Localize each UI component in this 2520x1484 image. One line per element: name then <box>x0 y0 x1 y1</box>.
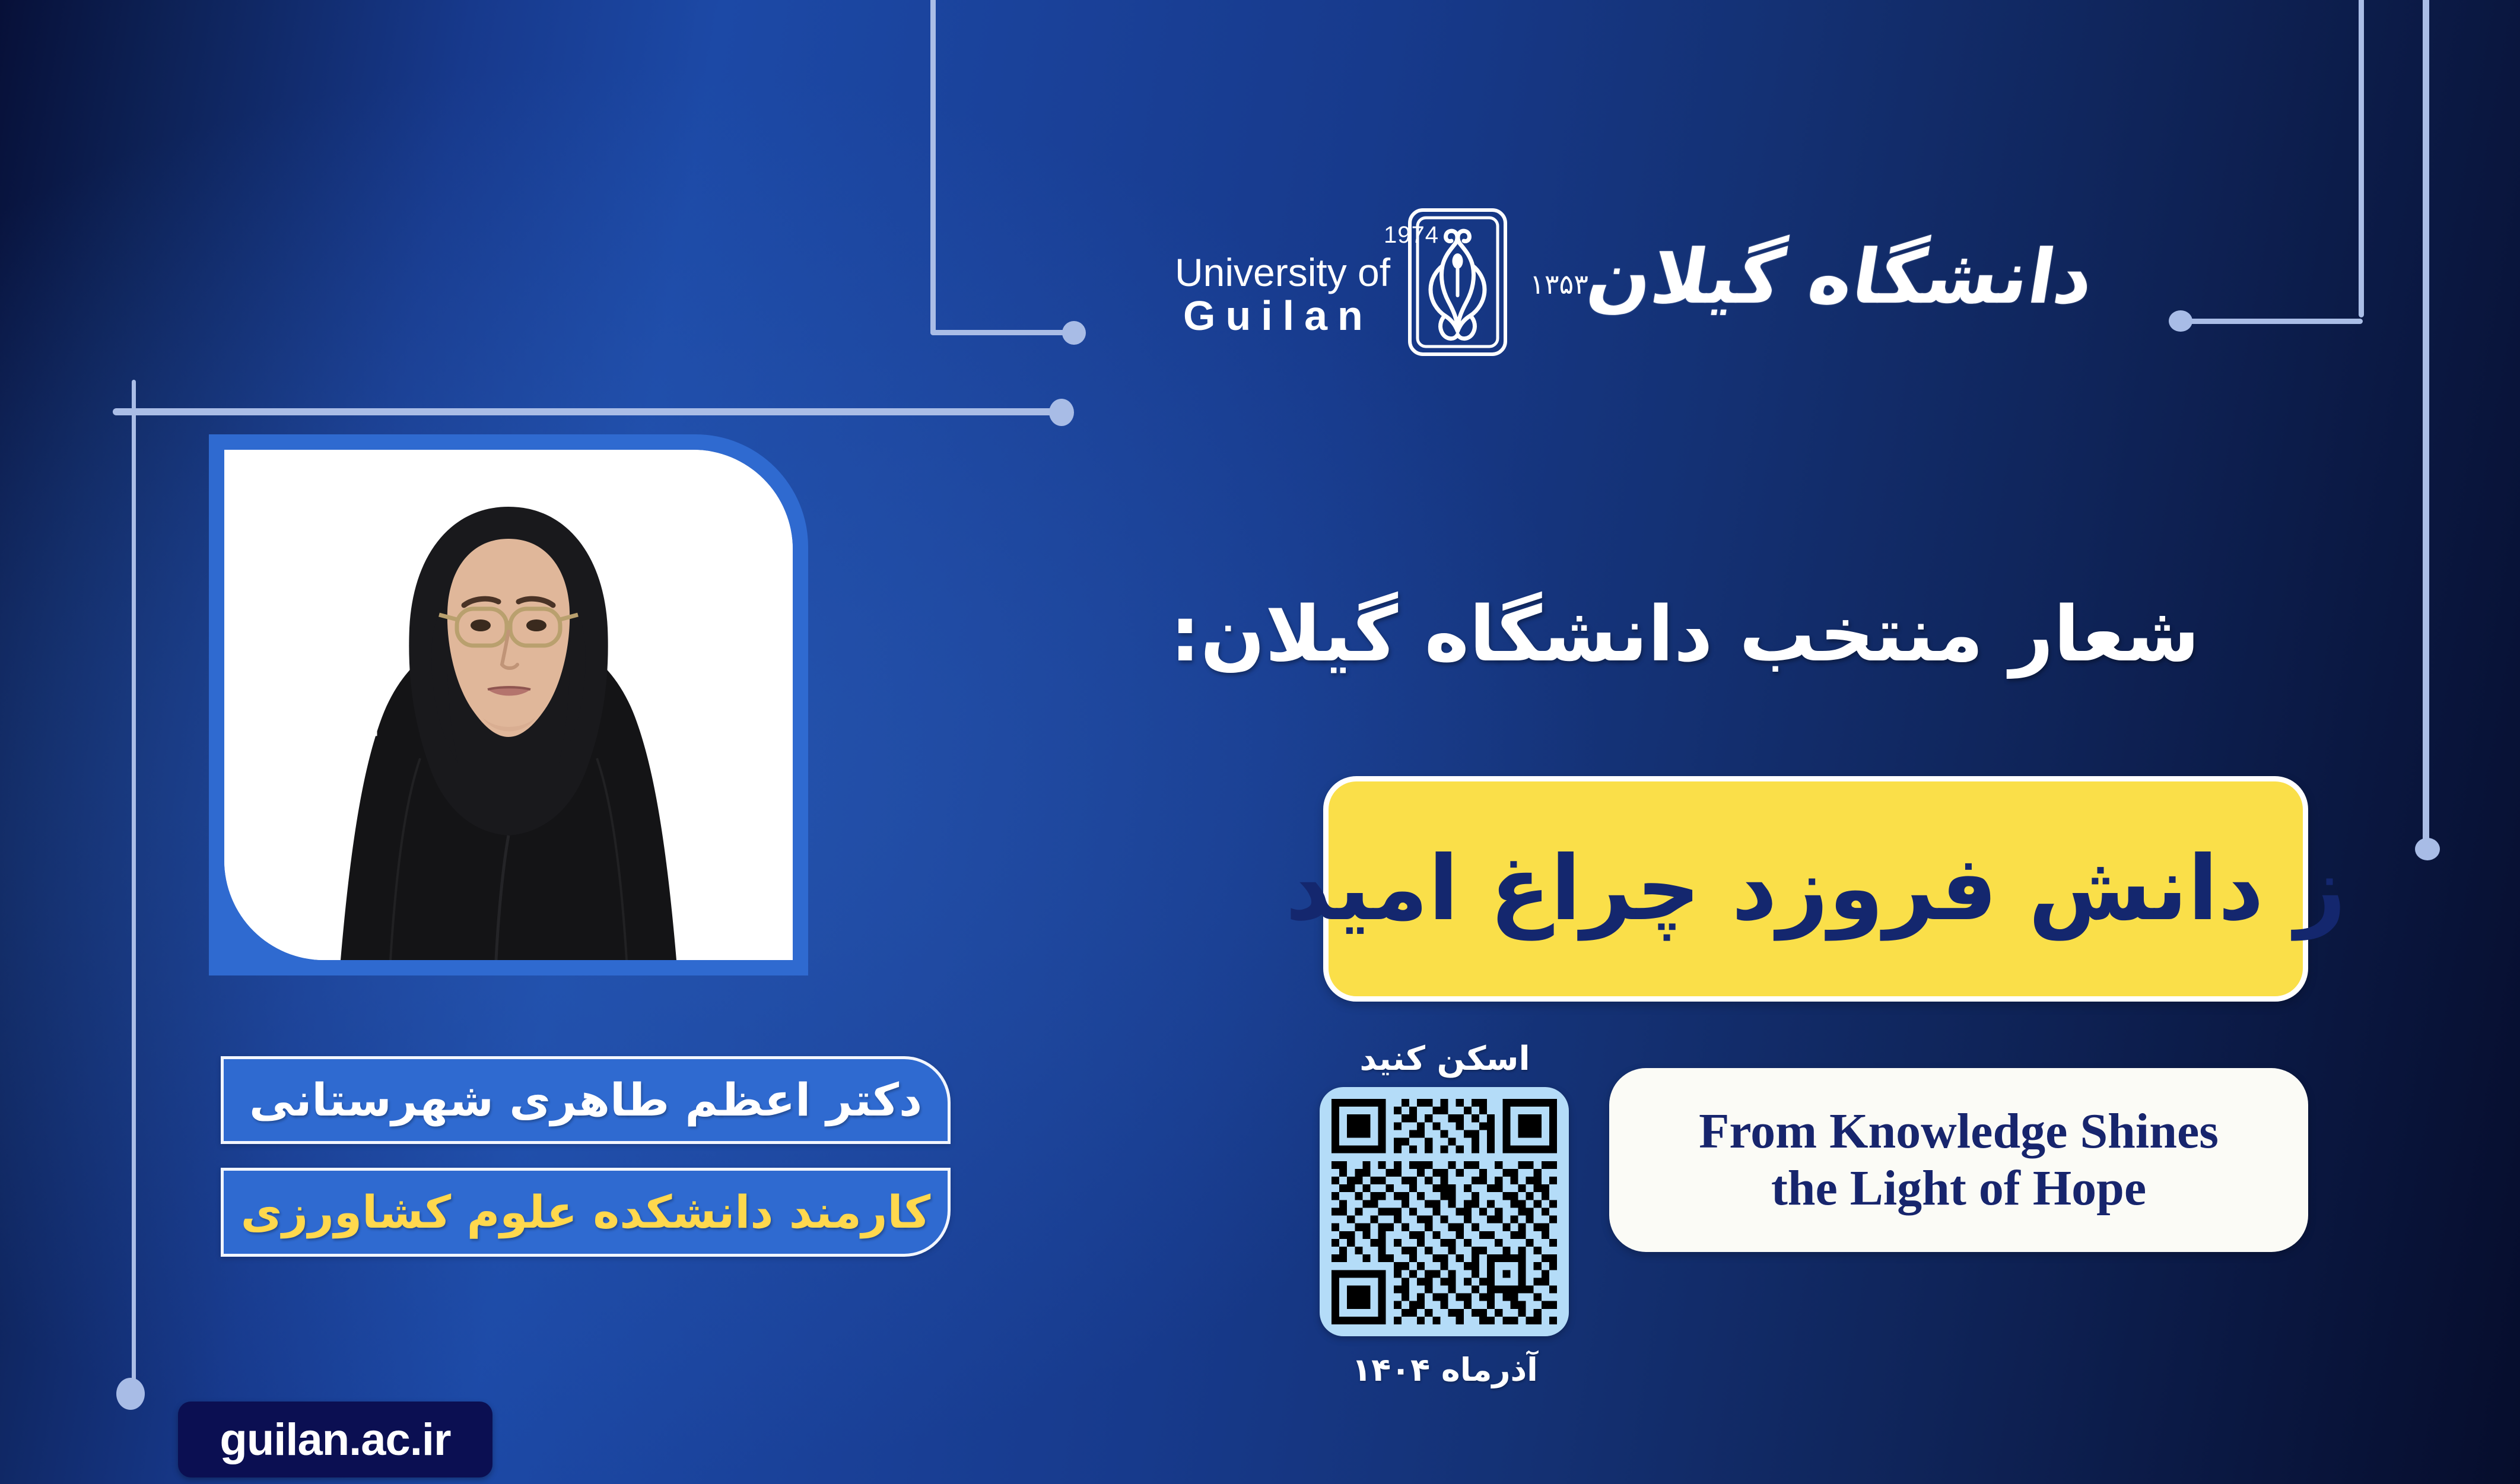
logo-founding-year-persian: ۱۳۵۳ <box>1530 268 1588 300</box>
logo-english-text: 1974 University of Guilan <box>1175 227 1390 338</box>
person-name-label: دکتر اعظم طاهری شهرستانی <box>249 1078 922 1123</box>
website-pill[interactable]: guilan.ac.ir <box>178 1402 492 1477</box>
decor-line-left-vertical <box>132 380 136 1383</box>
decor-dot-left-upper <box>1049 399 1074 426</box>
logo-guilan-label: Guilan <box>1183 295 1373 337</box>
logo-university-name-persian: دانشگاه گیلان <box>1582 240 2099 314</box>
person-role-badge: کارمند دانشکده علوم کشاورزی <box>221 1168 951 1257</box>
decor-line-right-inner-vertical <box>2359 0 2364 317</box>
portrait-photo-card <box>224 450 793 960</box>
decor-dot-top-left <box>1062 321 1086 345</box>
person-name-badge: دکتر اعظم طاهری شهرستانی <box>221 1056 951 1144</box>
qr-code-icon[interactable] <box>1320 1087 1569 1336</box>
guilan-university-emblem-icon <box>1406 206 1510 358</box>
person-role-label: کارمند دانشکده علوم کشاورزی <box>241 1190 931 1235</box>
qr-date-label: آذرماه ۱۴۰۴ <box>1305 1351 1584 1388</box>
university-logo: 1974 University of Guilan <box>1175 196 2112 368</box>
portrait-frame <box>209 434 808 975</box>
qr-section: اسکن کنید <box>1305 1040 1584 1384</box>
decor-line-left-horizontal <box>113 408 1068 415</box>
decor-dot-right-inner <box>2169 310 2192 332</box>
slogan-persian-box: ز دانش فروزد چراغ امید <box>1323 776 2308 1002</box>
poster-canvas: 1974 University of Guilan <box>0 0 2520 1484</box>
logo-persian-text: دانشگاه گیلان ۱۳۵۳ <box>1525 240 2093 324</box>
portrait-photo <box>224 450 793 960</box>
slogan-persian-text: ز دانش فروزد چراغ امید <box>1285 844 2346 933</box>
decor-line-top-left-vertical <box>930 0 936 335</box>
slogan-english-line1: From Knowledge Shines <box>1699 1103 2219 1160</box>
slogan-heading: شعار منتخب دانشگاه گیلان: <box>1170 593 2200 677</box>
decor-line-right-inner-horizontal <box>2179 319 2363 324</box>
qr-scan-label: اسکن کنید <box>1305 1040 1584 1078</box>
decor-line-right-outer-vertical <box>2423 0 2429 849</box>
decor-dot-left-lower <box>116 1378 145 1410</box>
slogan-english-box: From Knowledge Shines the Light of Hope <box>1609 1068 2308 1252</box>
website-url-label: guilan.ac.ir <box>220 1414 450 1466</box>
logo-university-of-label: University of <box>1175 253 1390 293</box>
slogan-english-line2: the Light of Hope <box>1771 1160 2146 1217</box>
decor-line-top-left-horizontal <box>930 330 1073 335</box>
decor-dot-right-outer <box>2415 838 2440 860</box>
